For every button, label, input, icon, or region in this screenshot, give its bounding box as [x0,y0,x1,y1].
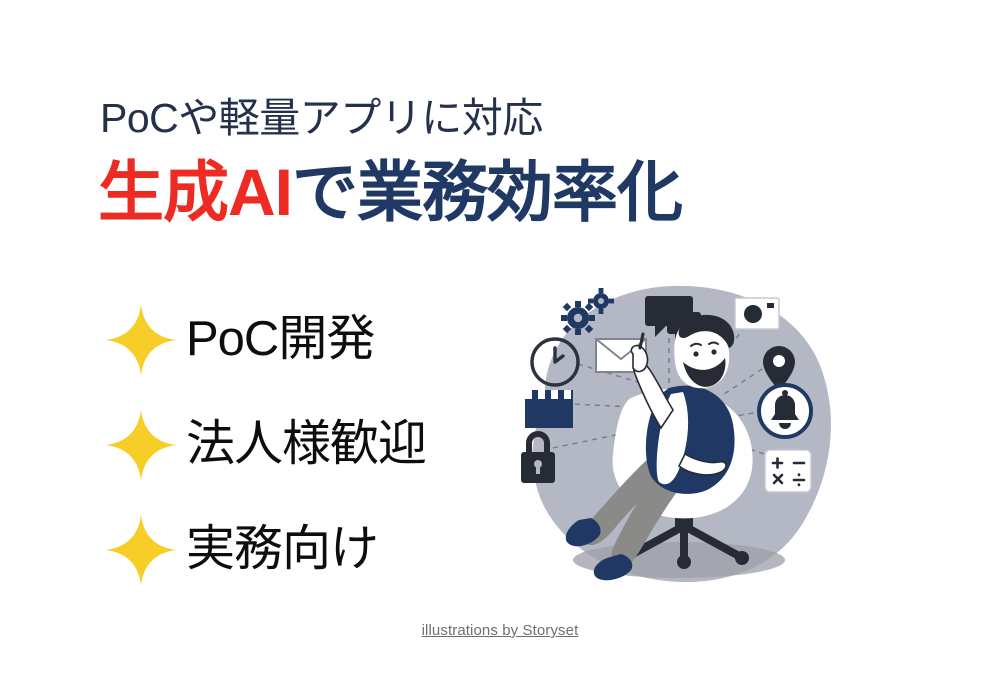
sparkle-star-icon [104,303,178,377]
credit-text: illustrations by Storyset [422,622,579,639]
slide-canvas: PoCや軽量アプリに対応 生成AIで業務効率化 PoC開発 法人様歓迎 [0,0,1000,698]
feature-list: PoC開発 法人様歓迎 実務向け [104,287,426,602]
list-item: 法人様歓迎 [104,392,426,497]
list-item: 実務向け [104,497,426,602]
calculator-icon [765,450,811,492]
calendar-icon [525,390,573,428]
list-item: PoC開発 [104,287,426,392]
illustration-man-on-office-chair [483,268,883,608]
bell-icon [759,385,811,437]
headline-accent: 生成AI [98,155,292,229]
page-title: 生成AIで業務効率化 [98,155,682,231]
sparkle-star-icon [104,513,178,587]
subtitle: PoCや軽量アプリに対応 [100,96,543,141]
illustration-credit: illustrations by Storyset [0,622,1000,639]
sparkle-star-icon [104,408,178,482]
headline-base: で業務効率化 [292,155,682,229]
list-item-label: 実務向け [186,525,378,574]
text-column: PoCや軽量アプリに対応 生成AIで業務効率化 PoC開発 法人様歓迎 [0,0,500,698]
gear-icon [561,301,595,335]
list-item-label: 法人様歓迎 [186,420,426,469]
camera-icon [735,298,779,329]
list-item-label: PoC開発 [186,315,374,364]
